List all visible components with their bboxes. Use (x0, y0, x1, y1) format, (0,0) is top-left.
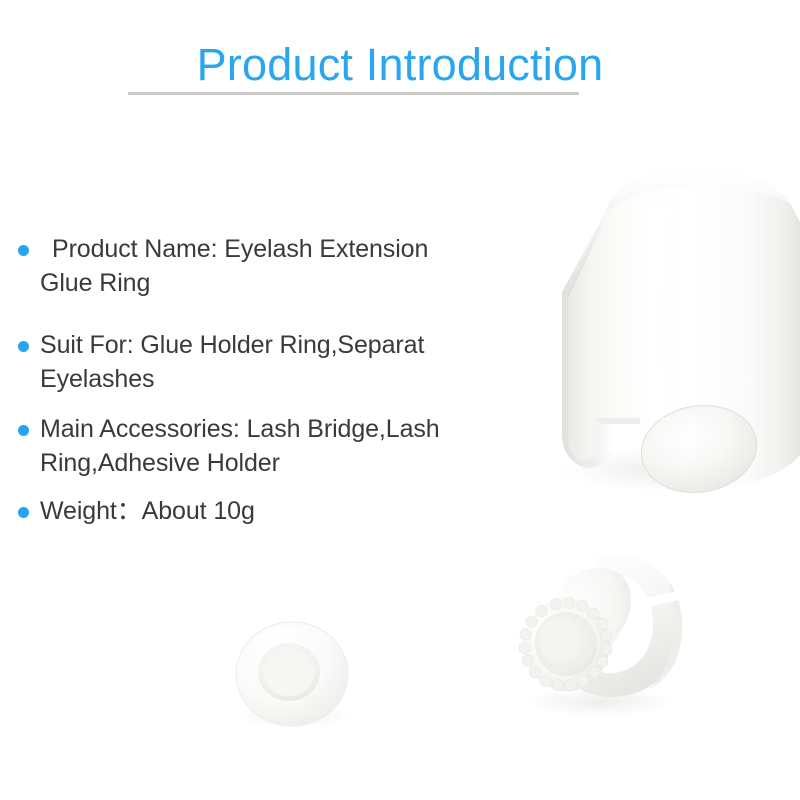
glue-holder-cup-photo (548, 167, 800, 501)
glue-ring-photo (509, 554, 682, 718)
spec-item-product-name: Product Name: Eyelash Extension Glue Rin… (16, 232, 536, 300)
product-introduction-page: Product Introduction Product Name: Eyela… (0, 0, 800, 800)
page-title-block: Product Introduction (0, 38, 800, 92)
spec-item-label: Suit For: Glue Holder Ring,Separat Eyela… (40, 328, 536, 396)
spec-item-suit-for: Suit For: Glue Holder Ring,Separat Eyela… (16, 328, 536, 396)
product-spec-list: Product Name: Eyelash Extension Glue Rin… (16, 232, 536, 528)
spec-item-main-accessories: Main Accessories: Lash Bridge,Lash Ring,… (16, 412, 536, 480)
bullet-dot-icon (18, 245, 29, 256)
bullet-dot-icon (18, 425, 29, 436)
bullet-dot-icon (18, 341, 29, 352)
lash-cup-disc-photo (232, 622, 356, 729)
spec-item-label: Product Name: Eyelash Extension Glue Rin… (40, 232, 536, 300)
title-underline-divider (128, 92, 579, 95)
spec-item-label: Main Accessories: Lash Bridge,Lash Ring,… (40, 412, 536, 480)
spec-item-weight: Weight：About 10g (16, 494, 536, 528)
spec-item-label: Weight：About 10g (40, 494, 536, 528)
bullet-dot-icon (18, 507, 29, 518)
page-title: Product Introduction (197, 38, 604, 92)
